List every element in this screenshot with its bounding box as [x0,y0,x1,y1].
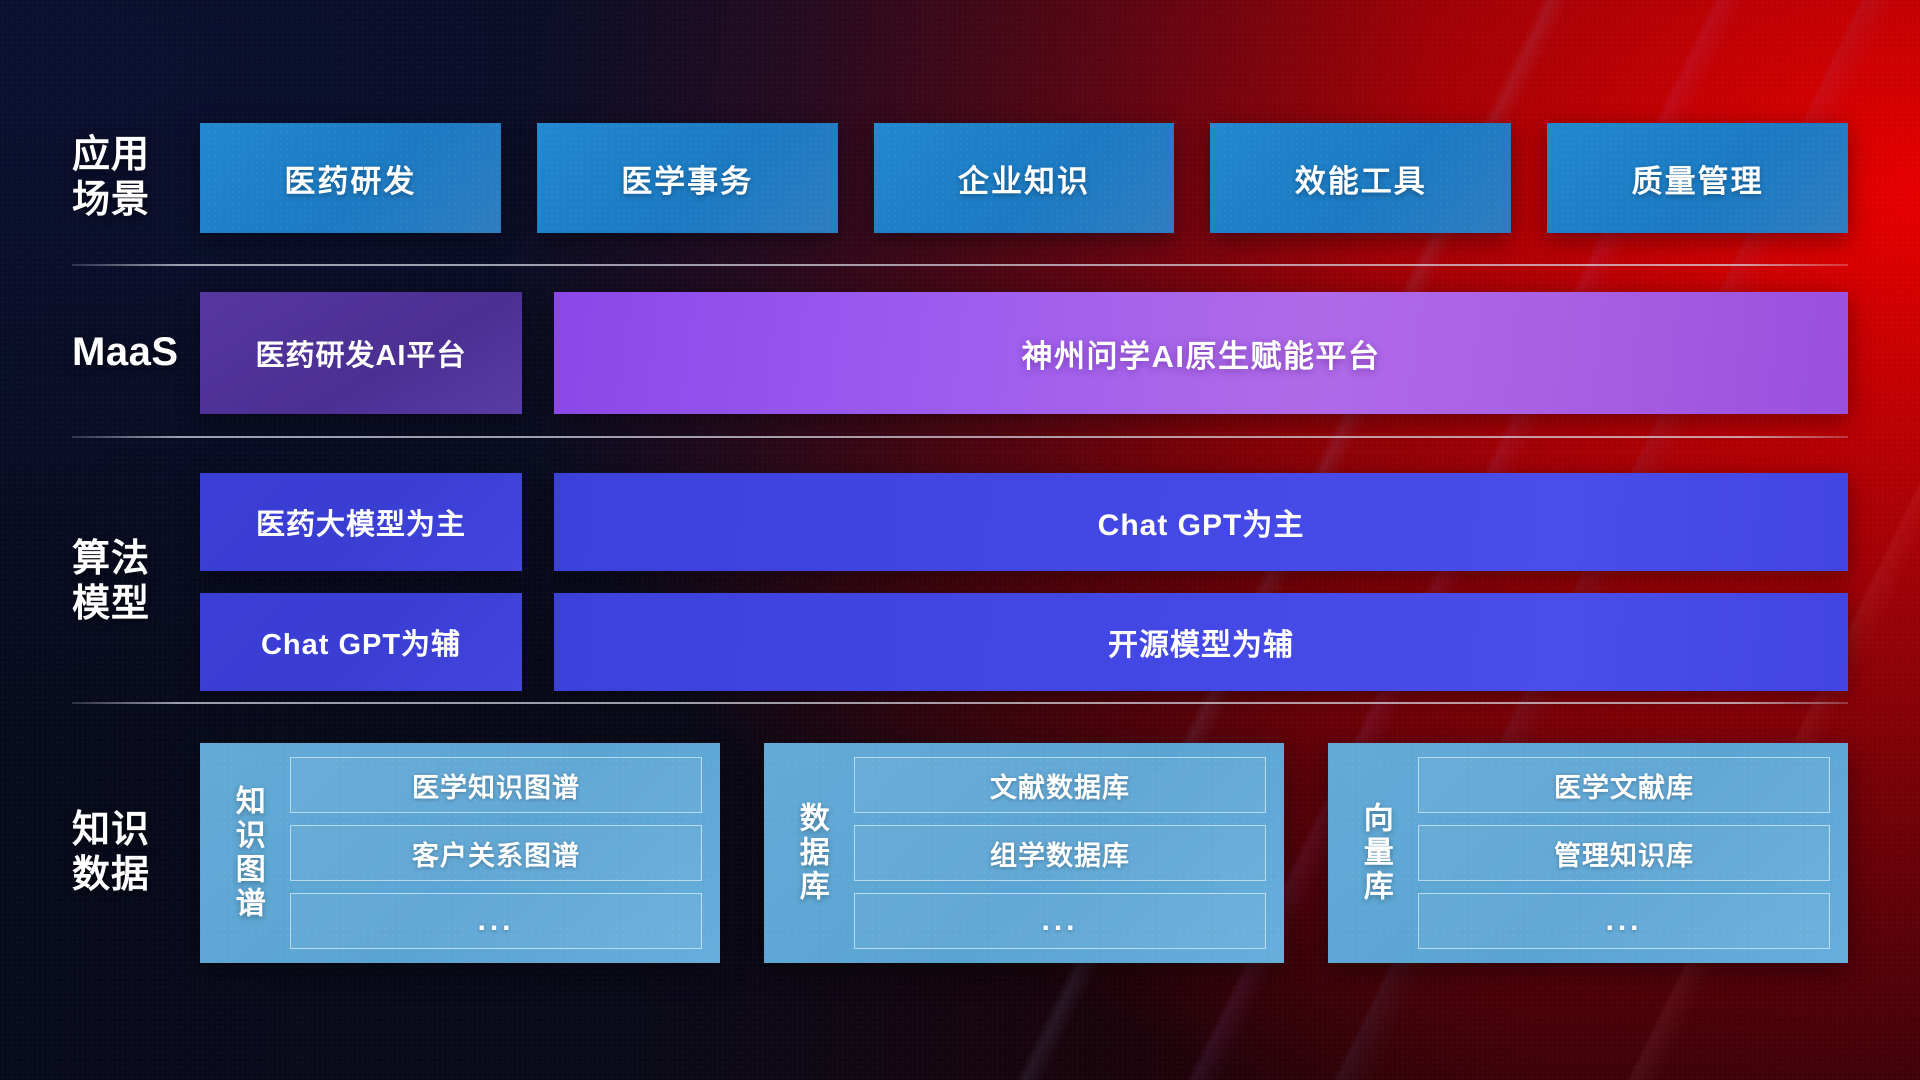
knowledge-item-management-knowledge-store[interactable]: 管理知识库 [1418,825,1830,881]
architecture-diagram: 应用 场景 医药研发 医学事务 企业知识 效能工具 质量管理 MaaS 医药研发… [0,0,1920,1080]
app-card-label: 质量管理 [1632,156,1764,201]
knowledge-item-literature-database[interactable]: 文献数据库 [854,757,1266,813]
app-card-enterprise-knowledge[interactable]: 企业知识 [874,123,1175,233]
algo-card-chatgpt-secondary[interactable]: Chat GPT为辅 [200,593,522,691]
knowledge-item-list: 文献数据库 组学数据库 ... [844,757,1266,949]
knowledge-item-medical-knowledge-graph[interactable]: 医学知识图谱 [290,757,702,813]
divider-algo-knowledge [72,702,1848,704]
knowledge-item-omics-database[interactable]: 组学数据库 [854,825,1266,881]
row-application-scenarios: 应用 场景 医药研发 医学事务 企业知识 效能工具 质量管理 [0,118,1920,238]
algo-card-opensource-secondary[interactable]: 开源模型为辅 [554,593,1848,691]
row-algorithm-model: 算法 模型 医药大模型为主 Chat GPT为主 Chat GPT为辅 开源模型… [0,462,1920,702]
row-label-knowledge-data: 知识 数据 [0,808,200,898]
knowledge-group-knowledge-graph[interactable]: 知识图谱 医学知识图谱 客户关系图谱 ... [200,743,720,963]
knowledge-item-list: 医学知识图谱 客户关系图谱 ... [280,757,702,949]
row-label-application-scenarios: 应用 场景 [0,133,200,223]
maas-card-drug-rd-ai-platform[interactable]: 医药研发AI平台 [200,292,522,414]
knowledge-item-medical-literature-store[interactable]: 医学文献库 [1418,757,1830,813]
row-label-maas: MaaS [0,329,200,376]
app-card-efficiency-tools[interactable]: 效能工具 [1210,123,1511,233]
app-card-label: 医学事务 [621,156,753,201]
app-card-label: 医药研发 [284,156,416,201]
algorithm-row-primary: 医药大模型为主 Chat GPT为主 [200,473,1848,571]
application-card-list: 医药研发 医学事务 企业知识 效能工具 质量管理 [200,123,1920,233]
algorithm-card-list: 医药大模型为主 Chat GPT为主 Chat GPT为辅 开源模型为辅 [200,473,1920,691]
algo-card-chatgpt-primary[interactable]: Chat GPT为主 [554,473,1848,571]
knowledge-group-vector-store[interactable]: 向量库 医学文献库 管理知识库 ... [1328,743,1848,963]
knowledge-group-database[interactable]: 数据库 文献数据库 组学数据库 ... [764,743,1284,963]
app-card-quality-management[interactable]: 质量管理 [1547,123,1848,233]
knowledge-item-customer-relation-graph[interactable]: 客户关系图谱 [290,825,702,881]
knowledge-item-more[interactable]: ... [854,893,1266,949]
knowledge-group-list: 知识图谱 医学知识图谱 客户关系图谱 ... 数据库 文献数据库 组学数据库 .… [200,743,1920,963]
knowledge-item-more[interactable]: ... [290,893,702,949]
app-card-label: 企业知识 [958,156,1090,201]
algo-card-pharma-llm-primary[interactable]: 医药大模型为主 [200,473,522,571]
algorithm-row-secondary: Chat GPT为辅 开源模型为辅 [200,593,1848,691]
maas-card-list: 医药研发AI平台 神州问学AI原生赋能平台 [200,292,1920,414]
slide-canvas: 应用 场景 医药研发 医学事务 企业知识 效能工具 质量管理 MaaS 医药研发… [0,0,1920,1080]
app-card-drug-rd[interactable]: 医药研发 [200,123,501,233]
knowledge-group-title: 数据库 [778,757,844,949]
row-knowledge-data: 知识 数据 知识图谱 医学知识图谱 客户关系图谱 ... 数据库 文献数据库 组… [0,728,1920,978]
app-card-label: 效能工具 [1295,156,1427,201]
knowledge-item-more[interactable]: ... [1418,893,1830,949]
knowledge-group-title: 向量库 [1342,757,1408,949]
row-label-algorithm-model: 算法 模型 [0,537,200,627]
divider-apps-maas [72,264,1848,266]
knowledge-item-list: 医学文献库 管理知识库 ... [1408,757,1830,949]
knowledge-group-title: 知识图谱 [214,757,280,949]
divider-maas-algo [72,436,1848,438]
row-maas: MaaS 医药研发AI平台 神州问学AI原生赋能平台 [0,290,1920,416]
app-card-medical-affairs[interactable]: 医学事务 [537,123,838,233]
maas-card-shenzhou-wenxue-platform[interactable]: 神州问学AI原生赋能平台 [554,292,1848,414]
